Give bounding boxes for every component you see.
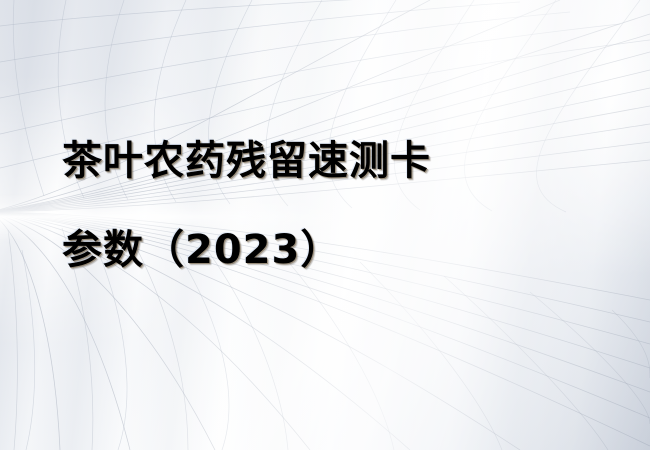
title-banner: 茶叶农药残留速测卡 参数（2023） bbox=[0, 0, 650, 450]
title-line-1: 茶叶农药残留速测卡 bbox=[62, 138, 622, 184]
title-line-2: 参数（2023） bbox=[62, 227, 622, 273]
page-title: 茶叶农药残留速测卡 参数（2023） bbox=[62, 138, 622, 273]
